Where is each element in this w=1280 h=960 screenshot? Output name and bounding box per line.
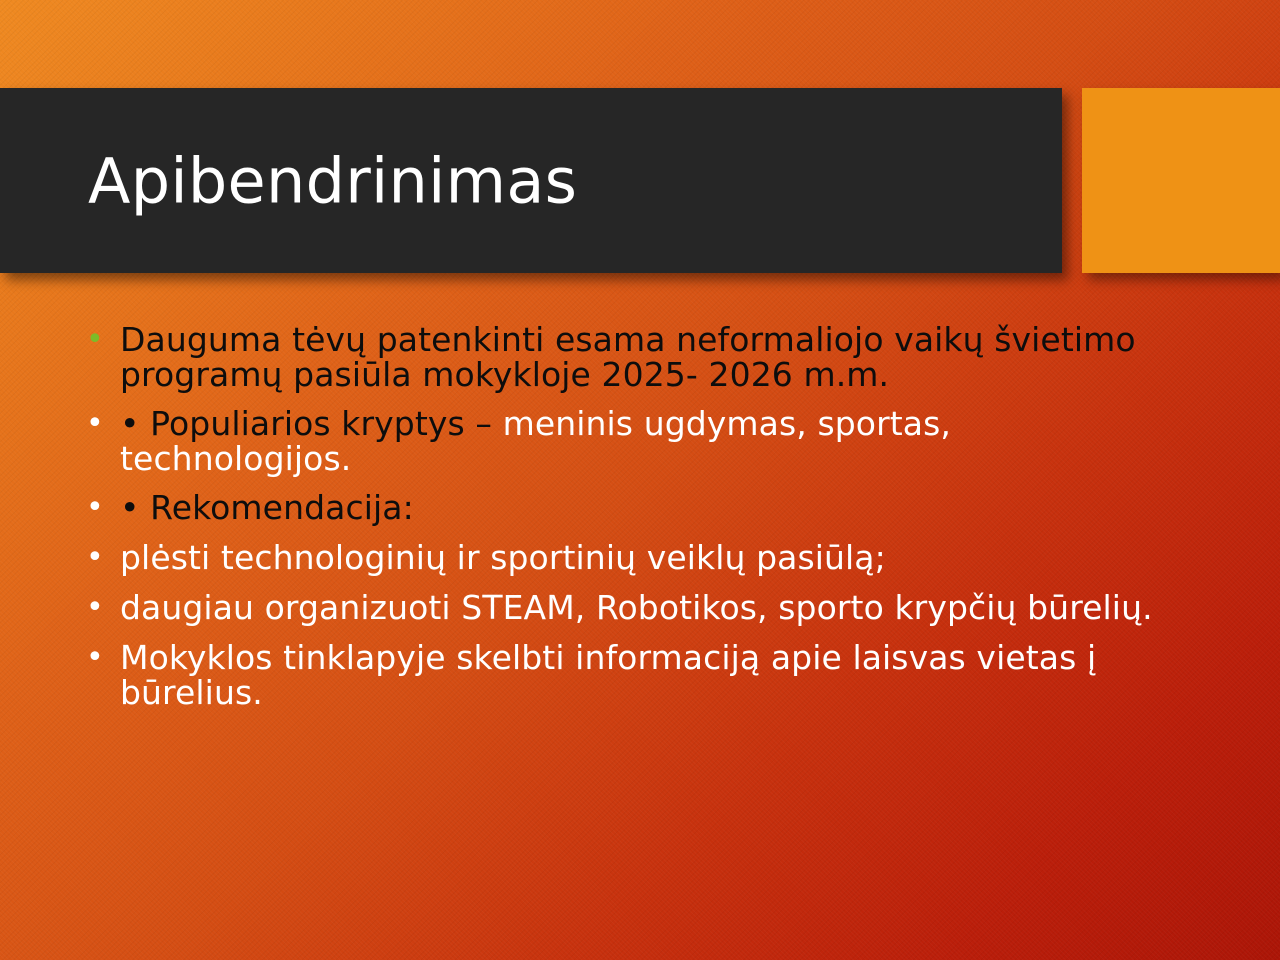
bullet-marker-icon: • (84, 590, 120, 626)
bullet-text-segment: Mokyklos tinklapyje skelbti informaciją … (120, 638, 1096, 712)
bullet-text-segment: • Populiarios kryptys – (120, 404, 503, 443)
slide-body-bullet-list: •Dauguma tėvų patenkinti esama neformali… (84, 322, 1154, 724)
bullet-text: daugiau organizuoti STEAM, Robotikos, sp… (120, 590, 1154, 625)
accent-block (1082, 88, 1280, 273)
bullet-marker-icon: • (84, 540, 120, 576)
bullet-item: •• Populiarios kryptys – meninis ugdymas… (84, 406, 1154, 476)
bullet-text: • Populiarios kryptys – meninis ugdymas,… (120, 406, 1154, 476)
presentation-slide: Apibendrinimas •Dauguma tėvų patenkinti … (0, 0, 1280, 960)
bullet-marker-icon: • (84, 406, 120, 442)
slide-title-bar: Apibendrinimas (0, 88, 1062, 273)
bullet-text-segment: Dauguma tėvų patenkinti esama neformalio… (120, 320, 1136, 394)
bullet-item: •daugiau organizuoti STEAM, Robotikos, s… (84, 590, 1154, 626)
bullet-text: Dauguma tėvų patenkinti esama neformalio… (120, 322, 1154, 392)
bullet-item: •Mokyklos tinklapyje skelbti informaciją… (84, 640, 1154, 710)
bullet-text: Mokyklos tinklapyje skelbti informaciją … (120, 640, 1154, 710)
bullet-marker-icon: • (84, 322, 120, 358)
bullet-text: • Rekomendacija: (120, 490, 1154, 525)
bullet-text-segment: • Rekomendacija: (120, 488, 414, 527)
bullet-text-segment: daugiau organizuoti STEAM, Robotikos, sp… (120, 588, 1153, 627)
bullet-text-segment: plėsti technologinių ir sportinių veiklų… (120, 538, 886, 577)
bullet-marker-icon: • (84, 640, 120, 676)
bullet-marker-icon: • (84, 490, 120, 526)
bullet-item: •Dauguma tėvų patenkinti esama neformali… (84, 322, 1154, 392)
slide-title: Apibendrinimas (88, 144, 577, 217)
bullet-item: • plėsti technologinių ir sportinių veik… (84, 540, 1154, 576)
bullet-text: plėsti technologinių ir sportinių veiklų… (120, 540, 1154, 575)
bullet-item: •• Rekomendacija: (84, 490, 1154, 526)
